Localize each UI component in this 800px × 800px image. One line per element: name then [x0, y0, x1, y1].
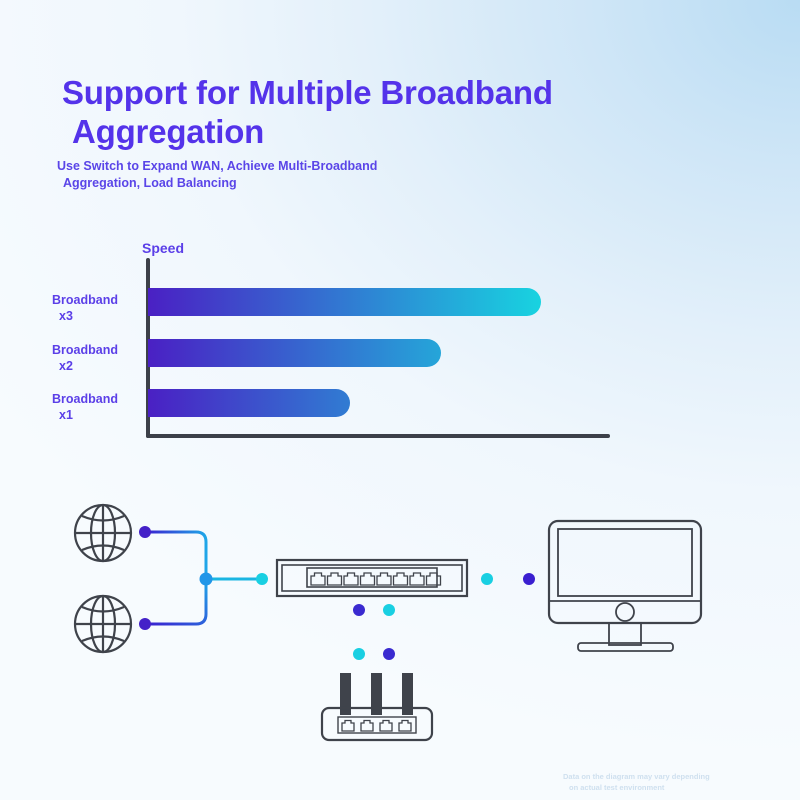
desktop-monitor-icon — [549, 521, 701, 651]
endpoint-dot-router-link-right-bottom — [383, 648, 395, 660]
endpoint-dot-monitor — [523, 573, 535, 585]
endpoint-dot-switch-left — [256, 573, 268, 585]
internet-globe-bottom-icon — [75, 596, 131, 652]
endpoint-dot-globe-top — [139, 526, 151, 538]
junction-dot — [200, 573, 213, 586]
wifi-router-icon — [322, 673, 432, 740]
endpoint-dot-globe-bottom — [139, 618, 151, 630]
network-topology-diagram — [0, 0, 800, 800]
endpoint-dot-switch-right — [481, 573, 493, 585]
endpoint-dot-router-link-left-top — [353, 604, 365, 616]
endpoint-dot-router-link-right-top — [383, 604, 395, 616]
footer-disclaimer-line1: Data on the diagram may vary depending — [563, 772, 710, 781]
slide-canvas: Support for Multiple Broadband Aggregati… — [0, 0, 800, 800]
network-switch-icon — [277, 560, 467, 596]
endpoint-dot-router-link-left-bottom — [353, 648, 365, 660]
footer-disclaimer-line2: on actual test environment — [563, 783, 793, 794]
footer-disclaimer: Data on the diagram may vary depending o… — [563, 772, 793, 794]
link-globe-top-to-junction — [145, 532, 206, 579]
internet-globe-top-icon — [75, 505, 131, 561]
link-globe-bottom-to-junction — [145, 579, 206, 624]
